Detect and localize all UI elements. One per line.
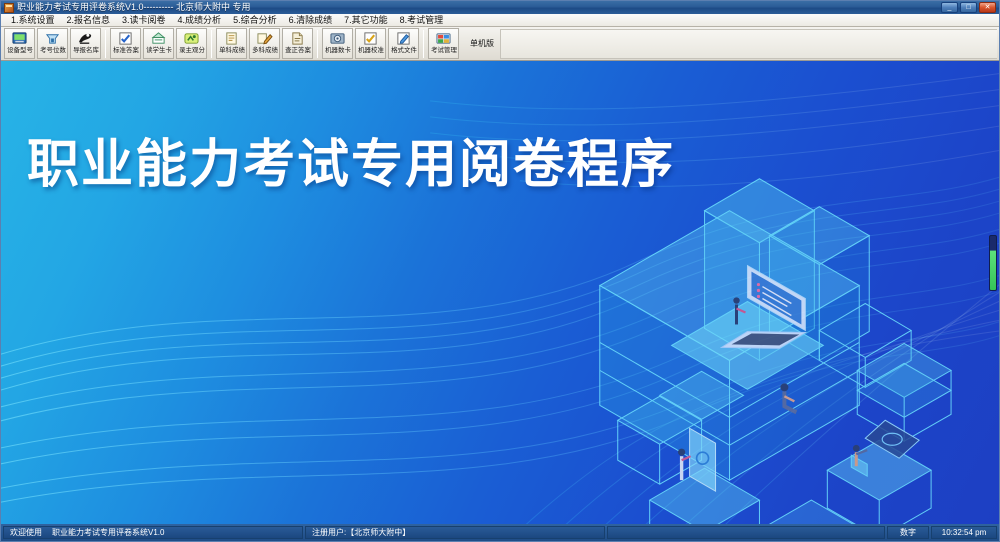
toolbar-separator [211, 30, 212, 58]
page-title: 职业能力考试专用阅卷程序 [27, 139, 675, 191]
status-welcome-prefix: 欢迎使用 [10, 527, 42, 538]
close-button[interactable]: ✕ [979, 2, 996, 13]
machine-calibration-icon [362, 31, 379, 46]
toolbar-machine-count-card-label: 机器数卡 [325, 47, 351, 54]
toolbar-standard-answer[interactable]: 标准答案 [110, 28, 141, 59]
toolbar-check-answer-label: 查正答案 [285, 47, 311, 54]
enter-subjective-score-icon [183, 31, 200, 46]
toolbar-exam-management-label: 考试管理 [431, 47, 457, 54]
status-welcome: 欢迎使用 职业能力考试专用评卷系统V1.0 [3, 526, 303, 539]
exam-management-icon [435, 31, 452, 46]
menu-score-analysis[interactable]: 4.成绩分析 [172, 14, 228, 26]
toolbar-separator [423, 30, 424, 58]
toolbar-group: 设备型号考号位数导报名库 [3, 28, 102, 60]
toolbar-format-file[interactable]: 格式文件 [388, 28, 419, 59]
menu-comprehensive-analysis[interactable]: 5.综合分析 [227, 14, 283, 26]
toolbar-read-student-card[interactable]: 读学生卡 [143, 28, 174, 59]
splash-client-area: 职业能力考试专用阅卷程序 [1, 61, 999, 524]
read-student-card-icon [150, 31, 167, 46]
toolbar-group: 标准答案读学生卡录主观分 [109, 28, 208, 60]
exam-number-digits-icon [44, 31, 61, 46]
minimize-icon: _ [942, 3, 957, 12]
toolbar-device-model[interactable]: 设备型号 [4, 28, 35, 59]
menu-card-reading[interactable]: 3.读卡阅卷 [116, 14, 172, 26]
toolbar-check-answer[interactable]: 查正答案 [282, 28, 313, 59]
machine-count-card-icon [329, 31, 346, 46]
status-bar: 欢迎使用 职业能力考试专用评卷系统V1.0 注册用户:【北京师大附中】 数字 1… [1, 524, 999, 541]
toolbar-enter-subjective-score-label: 录主观分 [179, 47, 205, 54]
status-time: 10:32:54 pm [931, 526, 997, 539]
toolbar-standard-answer-label: 标准答案 [113, 47, 139, 54]
application-window: 职业能力考试专用评卷系统V1.0---------- 北京师大附中 专用 _ □… [0, 0, 1000, 542]
menu-other-functions[interactable]: 7.其它功能 [338, 14, 394, 26]
menu-clear-scores[interactable]: 6.清除成绩 [283, 14, 339, 26]
minimize-button[interactable]: _ [941, 2, 958, 13]
menu-exam-management[interactable]: 8.考试管理 [394, 14, 450, 26]
toolbar-machine-count-card[interactable]: 机器数卡 [322, 28, 353, 59]
maximize-icon: □ [961, 3, 976, 12]
toolbar-group: 考试管理 [427, 28, 460, 60]
toolbar: 设备型号考号位数导报名库标准答案读学生卡录主观分单科成绩多科成绩查正答案机器数卡… [1, 27, 999, 61]
toolbar-machine-calibration[interactable]: 机器校准 [355, 28, 386, 59]
toolbar-group: 单科成绩多科成绩查正答案 [215, 28, 314, 60]
app-icon [4, 3, 14, 13]
standard-answer-icon [117, 31, 134, 46]
toolbar-exam-number-digits-label: 考号位数 [40, 47, 66, 54]
status-spacer [607, 526, 885, 539]
toolbar-group: 机器数卡机器校准格式文件 [321, 28, 420, 60]
toolbar-single-subject-score[interactable]: 单科成绩 [216, 28, 247, 59]
single-subject-score-icon [223, 31, 240, 46]
toolbar-device-model-label: 设备型号 [7, 47, 33, 54]
status-mode: 数字 [887, 526, 929, 539]
toolbar-format-file-label: 格式文件 [391, 47, 417, 54]
vertical-progress-indicator[interactable] [989, 235, 997, 291]
import-registration-db-icon [77, 31, 94, 46]
toolbar-multi-subject-score-label: 多科成绩 [252, 47, 278, 54]
menu-bar: 1.系统设置2.报名信息3.读卡阅卷4.成绩分析5.综合分析6.清除成绩7.其它… [1, 14, 999, 27]
toolbar-exam-number-digits[interactable]: 考号位数 [37, 28, 68, 59]
window-title: 职业能力考试专用评卷系统V1.0---------- 北京师大附中 专用 [17, 1, 941, 14]
toolbar-read-student-card-label: 读学生卡 [146, 47, 172, 54]
toolbar-import-registration-db-label: 导报名库 [73, 47, 99, 54]
menu-registration-info[interactable]: 2.报名信息 [61, 14, 117, 26]
toolbar-machine-calibration-label: 机器校准 [358, 47, 384, 54]
multi-subject-score-icon [256, 31, 273, 46]
toolbar-separator [317, 30, 318, 58]
background-swirl-lines [1, 61, 999, 524]
title-bar: 职业能力考试专用评卷系统V1.0---------- 北京师大附中 专用 _ □… [1, 1, 999, 14]
toolbar-exam-management[interactable]: 考试管理 [428, 28, 459, 59]
isometric-tech-illustration [1, 61, 999, 524]
status-registered-user: 注册用户:【北京师大附中】 [305, 526, 605, 539]
toolbar-edition-label: 单机版 [470, 38, 494, 49]
close-icon: ✕ [980, 3, 995, 12]
status-welcome-app: 职业能力考试专用评卷系统V1.0 [52, 527, 164, 538]
toolbar-import-registration-db[interactable]: 导报名库 [70, 28, 101, 59]
toolbar-empty-area [500, 29, 997, 59]
toolbar-separator [105, 30, 106, 58]
toolbar-enter-subjective-score[interactable]: 录主观分 [176, 28, 207, 59]
device-model-icon [11, 31, 28, 46]
menu-system-settings[interactable]: 1.系统设置 [5, 14, 61, 26]
format-file-icon [395, 31, 412, 46]
maximize-button[interactable]: □ [960, 2, 977, 13]
check-answer-icon [289, 31, 306, 46]
toolbar-multi-subject-score[interactable]: 多科成绩 [249, 28, 280, 59]
toolbar-single-subject-score-label: 单科成绩 [219, 47, 245, 54]
window-controls: _ □ ✕ [941, 2, 998, 13]
